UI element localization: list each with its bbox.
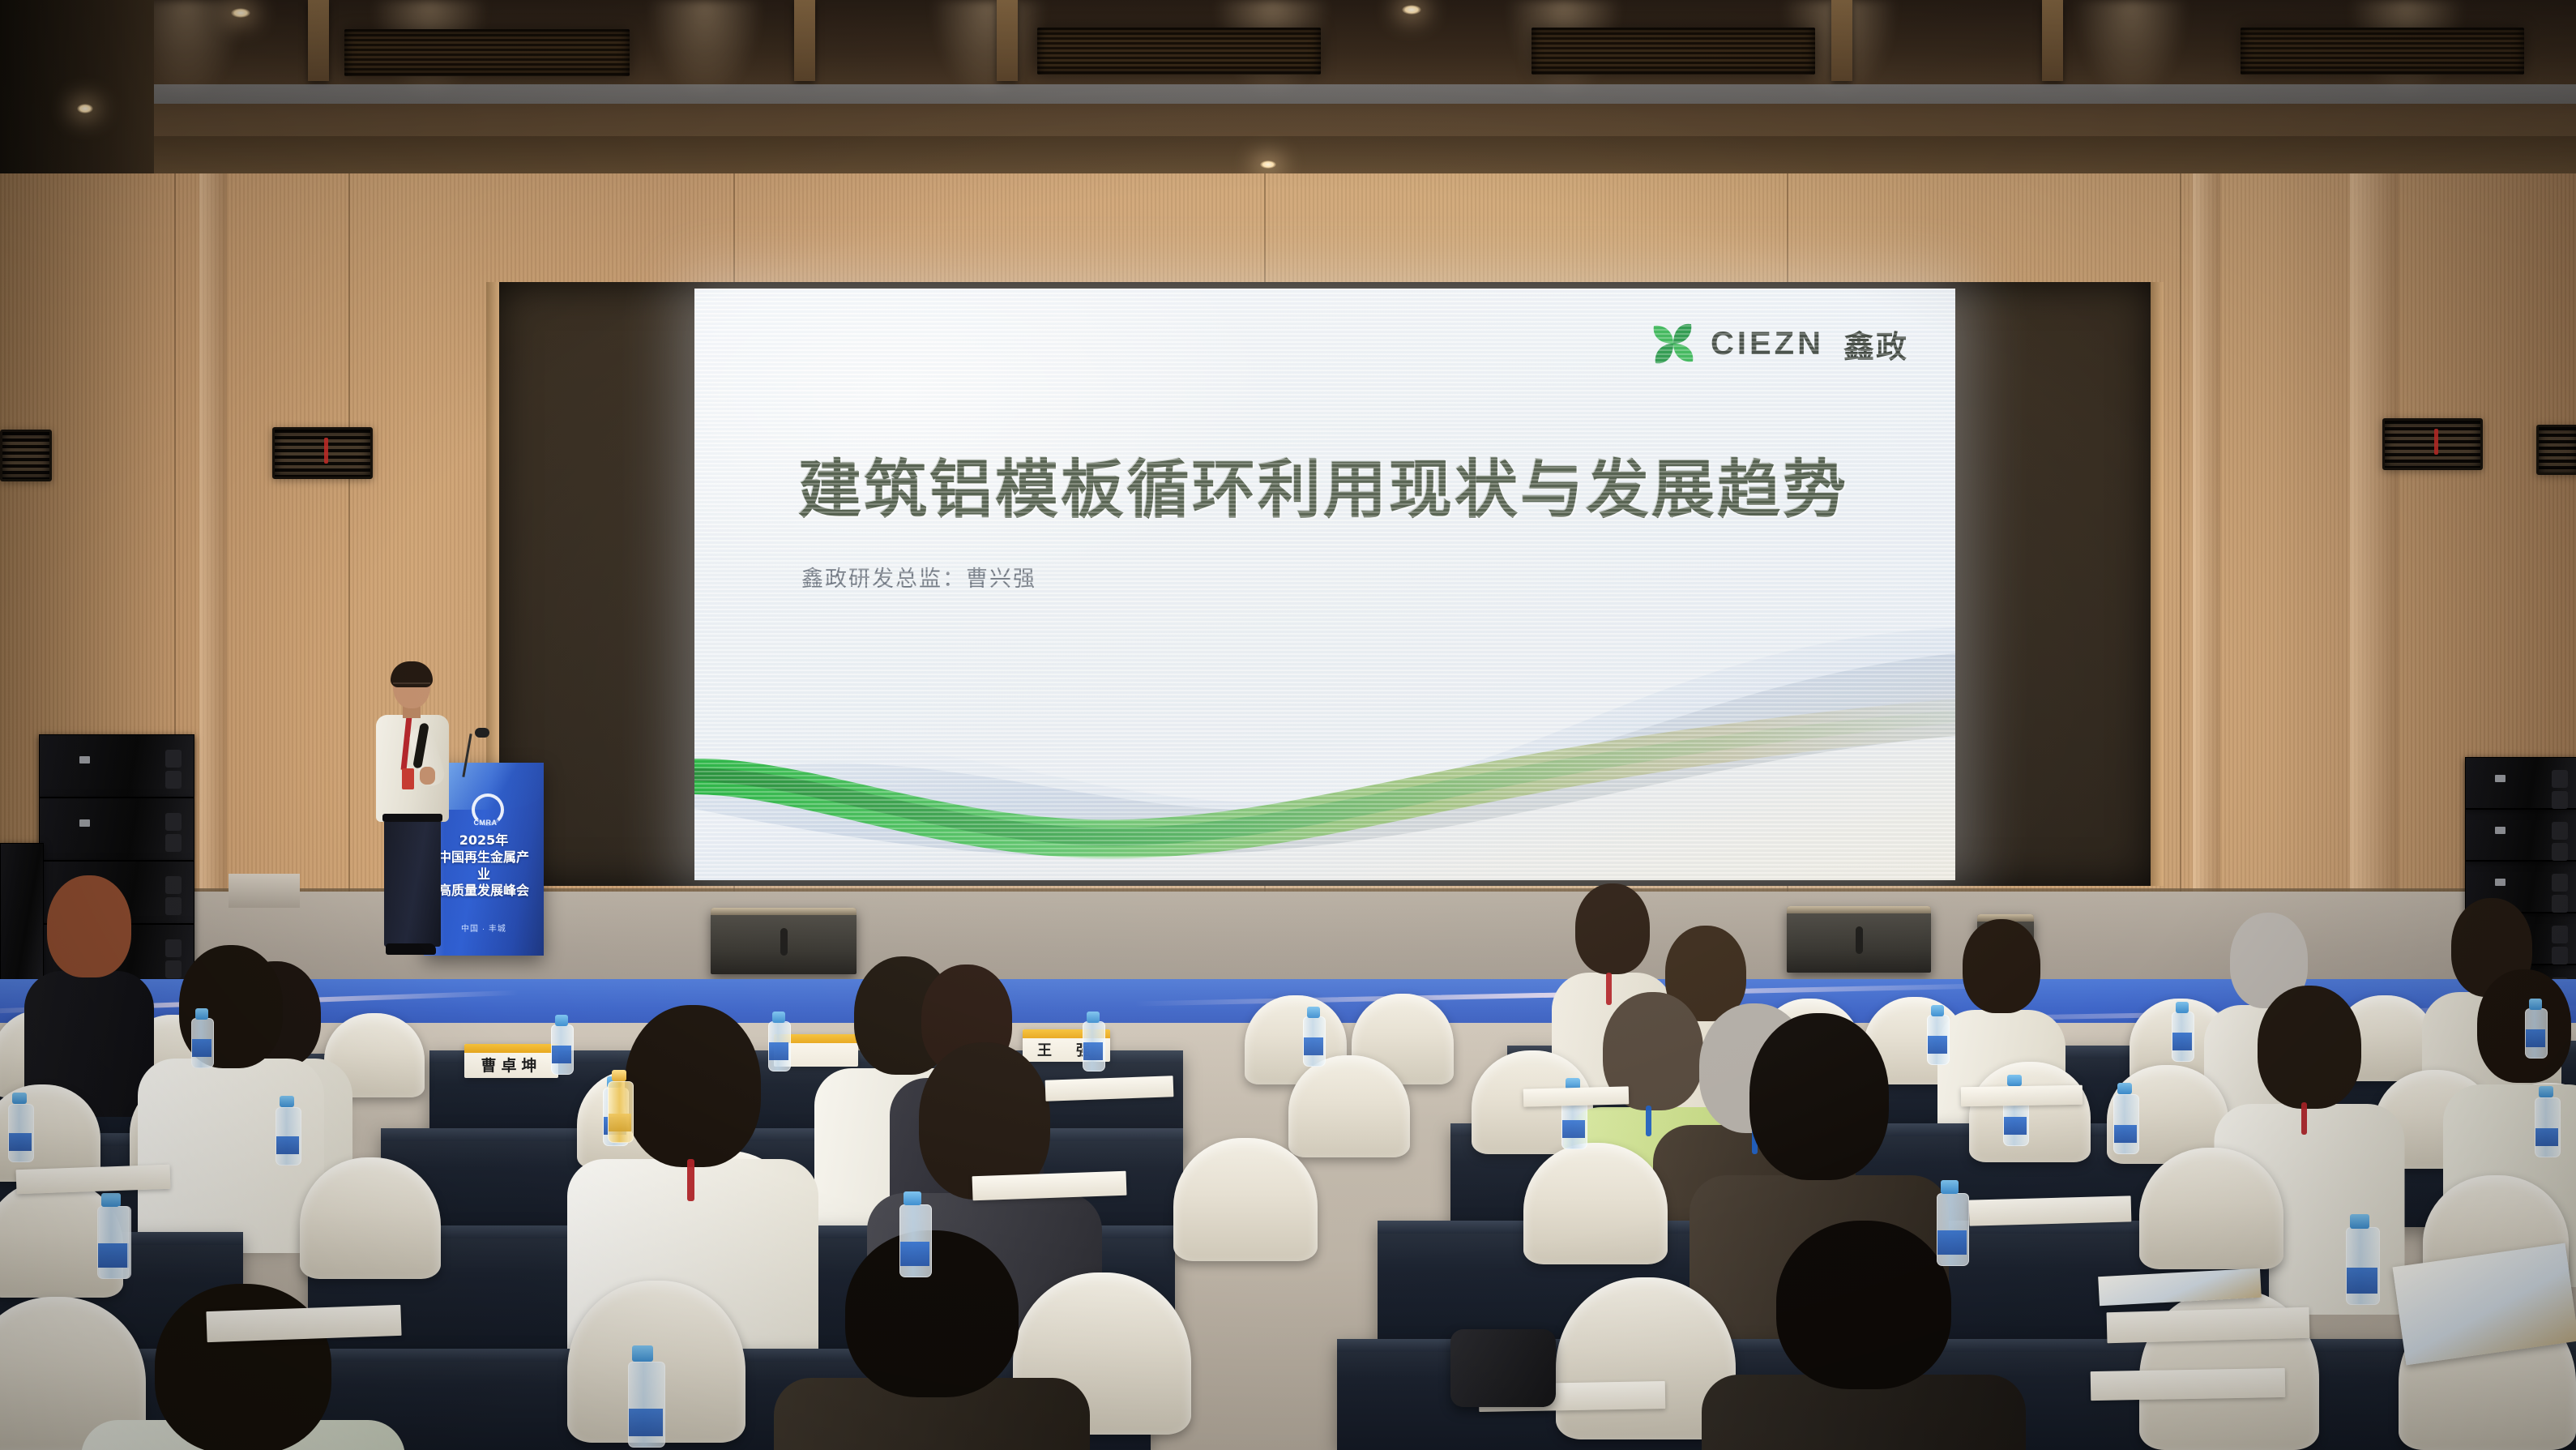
floor-bag [1450,1329,1556,1407]
downlight [1260,160,1276,169]
name-card-text: 曹卓坤 [464,1054,558,1076]
ceiling-left-edge [0,0,154,188]
slide-subtitle: 鑫政研发总监：曹兴强 [801,561,1036,592]
water-bottle [1927,1005,1948,1065]
water-bottle [899,1191,930,1277]
audience-chair [1969,1062,2091,1162]
ceiling-vent [344,29,630,76]
water-bottle [1303,1007,1324,1067]
podium-org-abbrev: CMRA [461,819,510,827]
water-bottle [768,1012,789,1071]
wall-vent [2382,418,2483,470]
water-bottle [2113,1083,2138,1154]
wall-vent [2536,425,2576,475]
water-bottle [97,1193,128,1279]
slide-title: 建筑铝模板循环利用现状与发展趋势 [798,456,1876,526]
water-bottle [276,1096,300,1166]
glasses-icon [393,682,430,691]
audience-member [810,1230,1053,1450]
audience-chair [1173,1138,1318,1261]
badge [402,768,414,789]
water-bottle [551,1015,572,1075]
stage-step [229,874,300,908]
audience-chair [300,1157,441,1279]
water-bottle [1937,1180,1967,1266]
audience-member [32,875,146,1062]
table-name-card: 曹卓坤 [464,1044,558,1078]
slide-wave-graphic [694,621,1955,880]
water-bottle [8,1093,32,1162]
slide-logo: CIEZN 鑫政 [1649,319,1908,368]
water-bottle [191,1008,212,1068]
downlight [1402,5,1421,15]
ceiling-vent [1037,28,1321,75]
wall-vent [0,430,52,481]
microphone-head-icon [475,728,489,738]
wall-vent [272,427,373,479]
audience-chair [2139,1148,2283,1269]
pinwheel-leaf-icon [1649,319,1698,368]
conference-hall-photo: CIEZN 鑫政 建筑铝模板循环利用现状与发展趋势 鑫政研发总监：曹兴强 CMR… [0,0,2576,1450]
audience-chair [1288,1055,1410,1157]
led-presentation-screen[interactable]: CIEZN 鑫政 建筑铝模板循环利用现状与发展趋势 鑫政研发总监：曹兴强 [694,289,1955,880]
water-bottle [2346,1214,2378,1305]
table-document [2107,1307,2310,1344]
table-document [1969,1196,2132,1225]
downlight [231,8,250,18]
table-document [2091,1368,2286,1401]
water-bottle [2525,999,2546,1059]
table-document [1961,1085,2083,1107]
audience-chair [1523,1143,1668,1264]
water-bottle [628,1345,664,1448]
ceiling-vent [2241,28,2524,75]
downlight [77,104,93,113]
juice-bottle [608,1070,632,1143]
ceiling-vent [1532,28,1815,75]
slide-logo-text-cn: 鑫政 [1843,322,1908,366]
stage-monitor-wedge [1787,906,1931,973]
table-document [1523,1086,1630,1106]
water-bottle [1083,1012,1104,1071]
water-bottle [2172,1002,2193,1062]
slide-logo-text: CIEZN [1711,326,1824,362]
table-document [1045,1076,1174,1101]
water-bottle [2535,1086,2559,1157]
presenter [366,665,455,965]
